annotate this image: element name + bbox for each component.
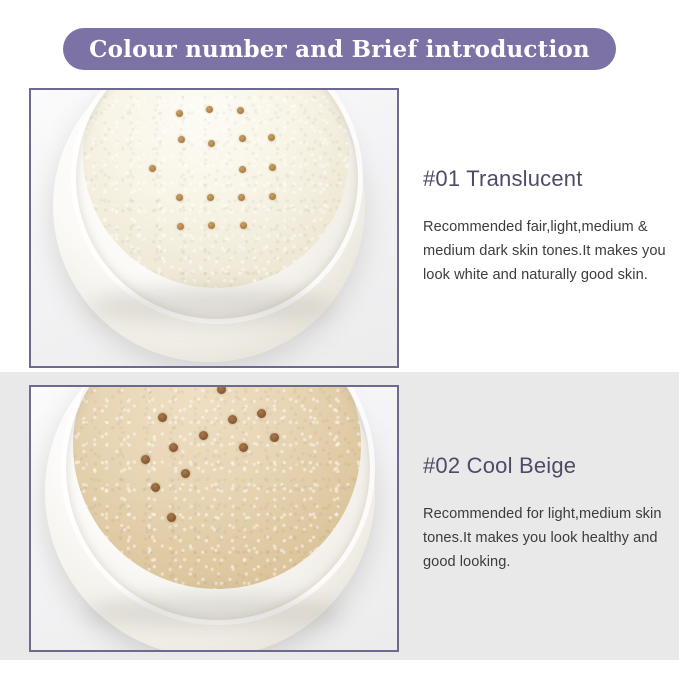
jar-shadow-1 [91,288,331,324]
product-info-1: #01 Translucent Recommended fair,light,m… [423,166,667,287]
product-row-1: #01 Translucent Recommended fair,light,m… [0,88,679,370]
product-photo-1-scene [31,90,397,366]
page-title: Colour number and Brief introduction [89,38,590,61]
product-photo-2 [29,385,399,652]
product-title-1: #01 Translucent [423,166,667,192]
header-pill: Colour number and Brief introduction [63,28,616,70]
jar-shadow-2 [86,595,341,629]
product-info-2: #02 Cool Beige Recommended for light,med… [423,453,667,574]
product-title-2: #02 Cool Beige [423,453,667,479]
product-description-1: Recommended fair,light,medium & medium d… [423,216,667,287]
header-banner: Colour number and Brief introduction [0,28,679,70]
infographic-page: Colour number and Brief introduction [0,0,679,679]
product-photo-2-scene [31,387,397,650]
product-description-2: Recommended for light,medium skin tones.… [423,503,667,574]
product-photo-1 [29,88,399,368]
product-row-2: #02 Cool Beige Recommended for light,med… [0,385,679,653]
